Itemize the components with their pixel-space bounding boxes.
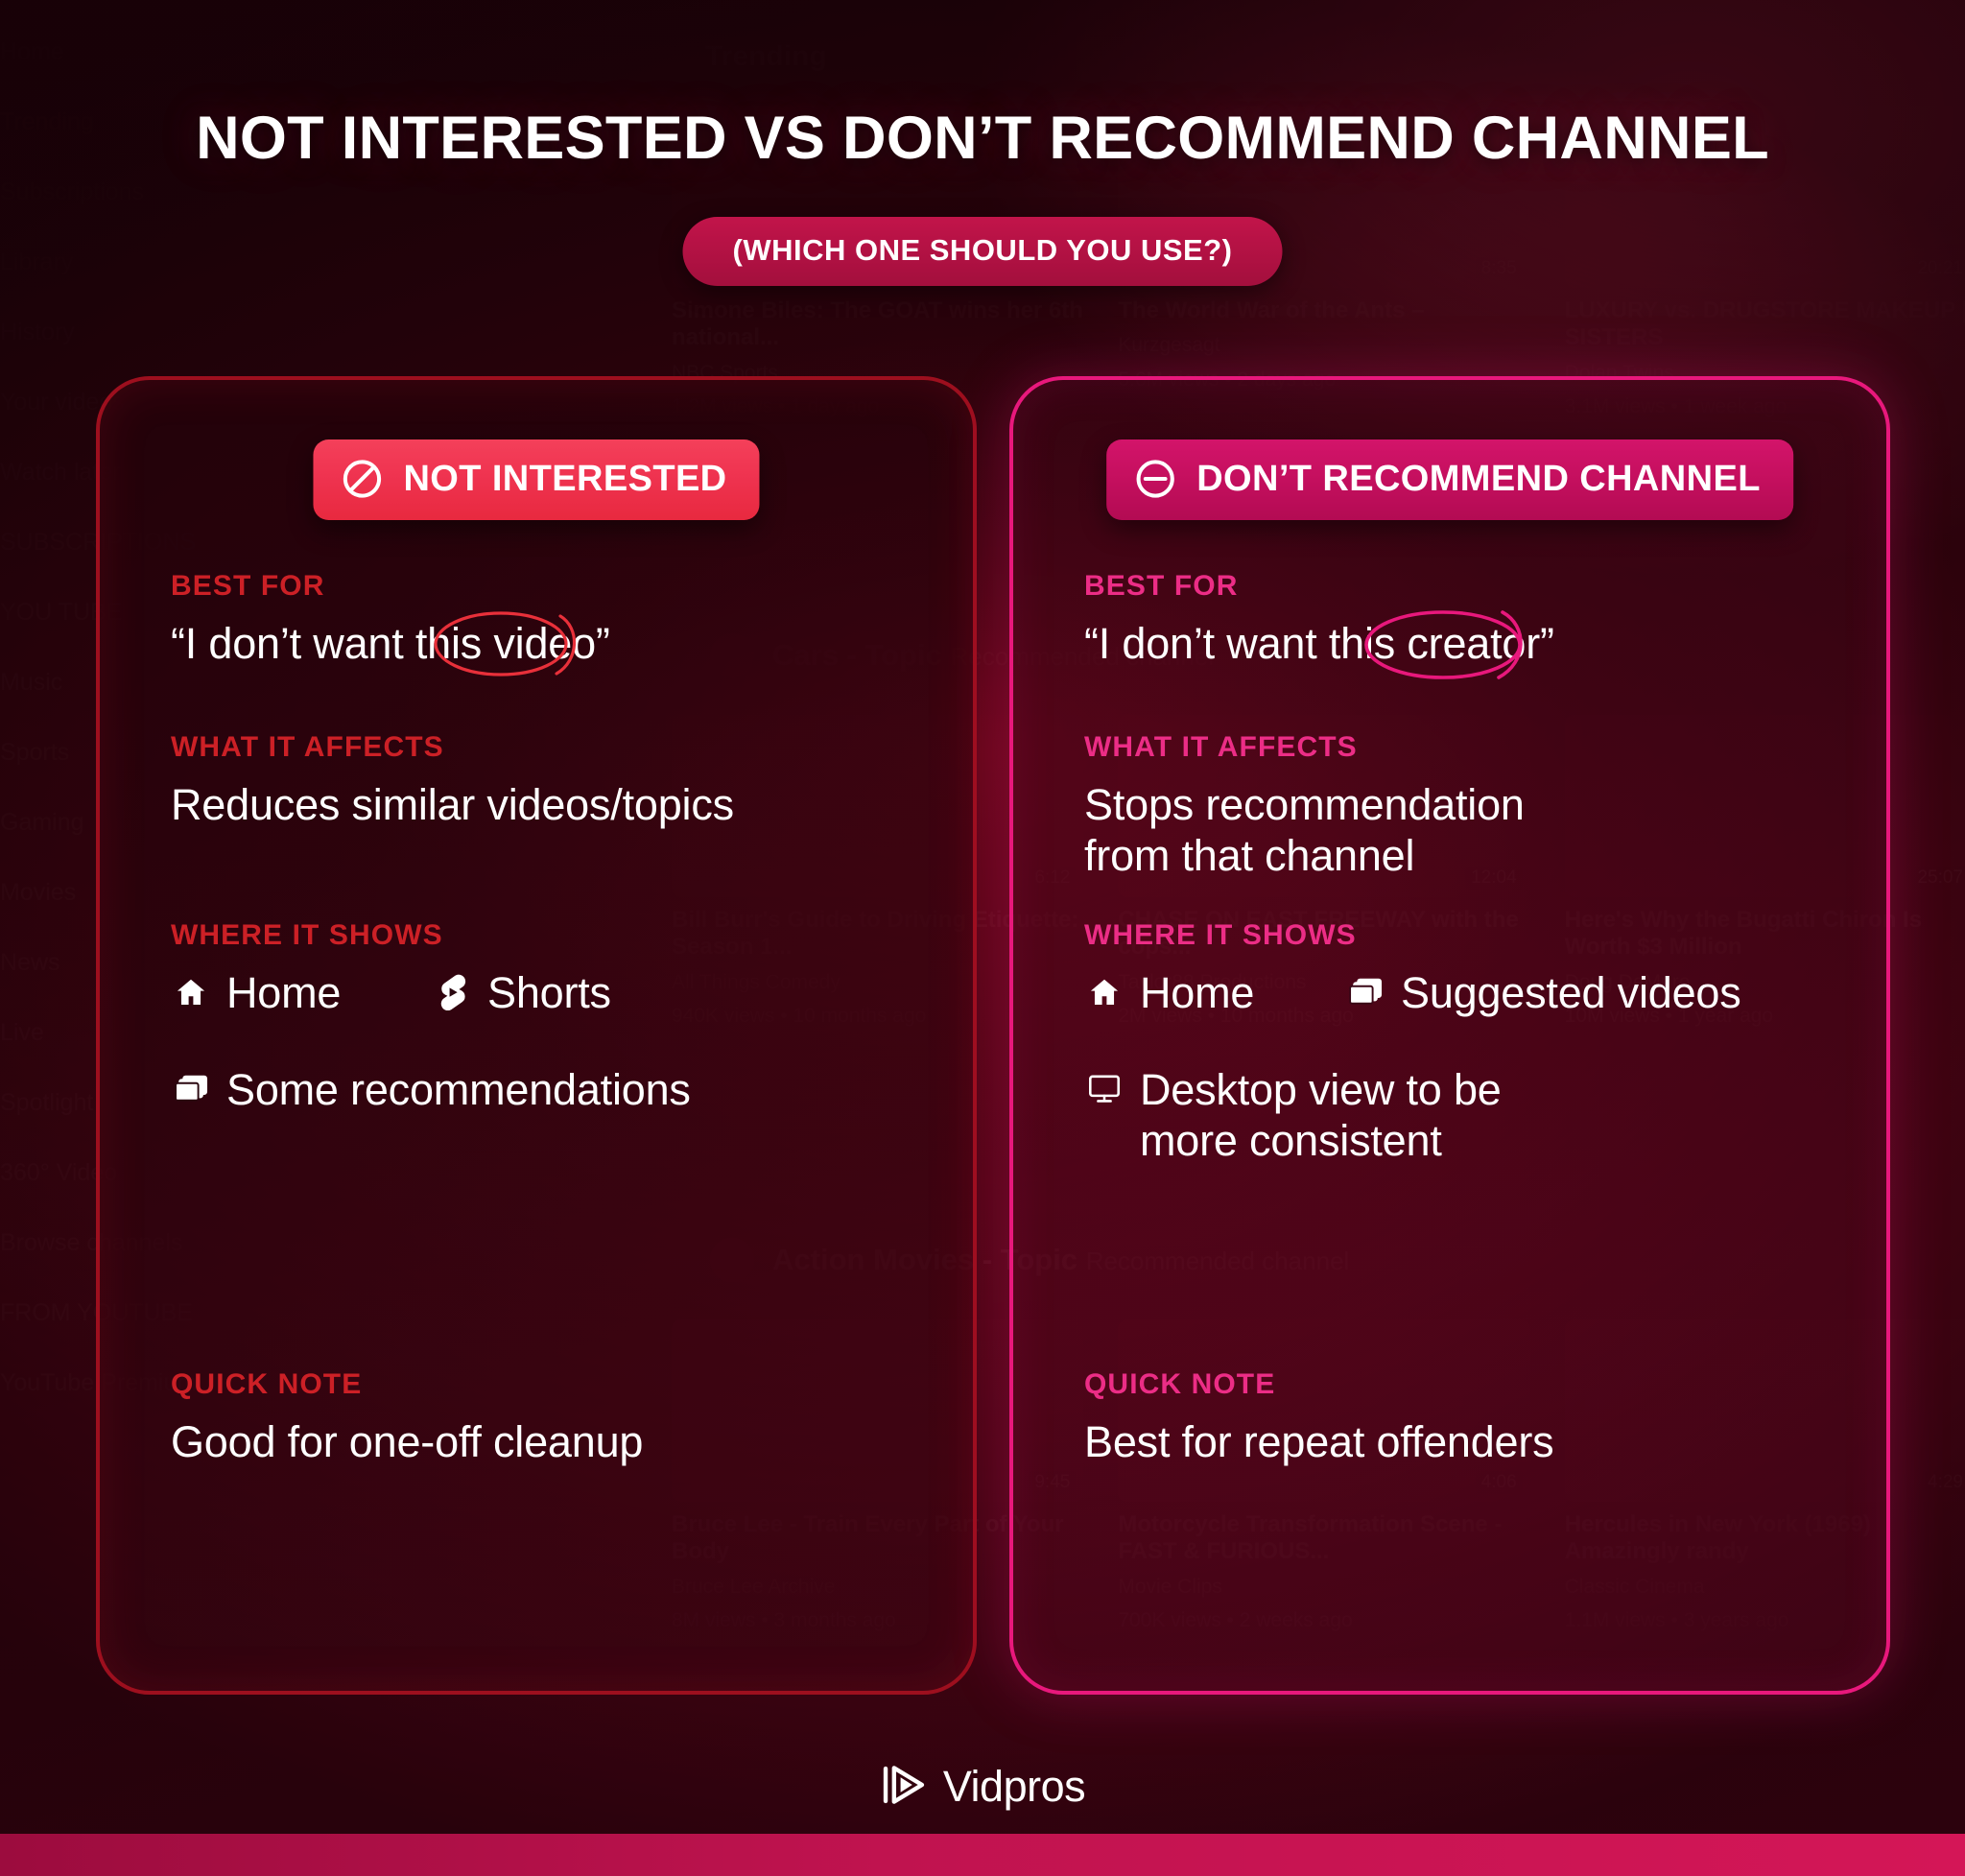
list-item-shorts: Shorts <box>432 967 611 1018</box>
section-quick-note: QUICK NOTE Best for repeat offenders <box>1084 1368 1838 1467</box>
section-quick-note: QUICK NOTE Good for one-off cleanup <box>171 1368 925 1467</box>
no-entry-sign-icon <box>340 457 384 501</box>
page-subtitle-badge: (WHICH ONE SHOULD YOU USE?) <box>683 217 1283 286</box>
section-where-it-shows: WHERE IT SHOWS Home <box>1084 919 1838 1166</box>
badge-not-interested: NOT INTERESTED <box>313 439 759 520</box>
where-it-shows-list: Home Suggested videos <box>1084 967 1838 1166</box>
section-what-it-affects: WHAT IT AFFECTS Stops recommendation fro… <box>1084 731 1838 881</box>
section-best-for: BEST FOR “I don’t want this video” <box>171 570 925 669</box>
list-item-label: Home <box>226 967 341 1018</box>
list-item-label: Home <box>1140 967 1254 1018</box>
shorts-icon <box>432 967 472 1017</box>
section-value: Reduces similar videos/topics <box>171 779 925 830</box>
section-value: Good for one-off cleanup <box>171 1416 925 1467</box>
section-label: WHERE IT SHOWS <box>1084 919 1838 952</box>
minus-circle-icon <box>1133 457 1177 501</box>
section-label: WHAT IT AFFECTS <box>171 731 925 764</box>
section-value: “I don’t want this creator” <box>1084 618 1554 669</box>
section-label: BEST FOR <box>171 570 925 603</box>
stacked-cards-icon <box>1345 967 1385 1017</box>
list-item-label: Desktop view to be more consistent <box>1140 1064 1535 1166</box>
section-what-it-affects: WHAT IT AFFECTS Reduces similar videos/t… <box>171 731 925 830</box>
section-label: QUICK NOTE <box>171 1368 925 1401</box>
page-title: NOT INTERESTED VS DON’T RECOMMEND CHANNE… <box>0 104 1965 173</box>
list-item-home: Home <box>1084 967 1345 1018</box>
home-icon <box>1084 967 1125 1017</box>
stacked-cards-icon <box>171 1064 211 1114</box>
badge-dont-recommend-channel: DON’T RECOMMEND CHANNEL <box>1106 439 1793 520</box>
list-item-home: Home <box>171 967 432 1018</box>
brand-wordmark: Vidpros <box>943 1762 1085 1812</box>
card-not-interested: NOT INTERESTED BEST FOR “I don’t want th… <box>96 376 977 1695</box>
list-item-desktop-view: Desktop view to be more consistent <box>1084 1064 1535 1166</box>
badge-not-interested-label: NOT INTERESTED <box>403 459 726 500</box>
section-label: BEST FOR <box>1084 570 1838 603</box>
desktop-monitor-icon <box>1084 1064 1125 1114</box>
bottom-accent-bar <box>0 1834 1965 1876</box>
brand-logo: Vidpros <box>0 1762 1965 1812</box>
best-for-text: “I don’t want this video” <box>171 619 610 668</box>
section-value: “I don’t want this video” <box>171 618 610 669</box>
section-value: Stops recommendation from that channel <box>1084 779 1593 881</box>
section-label: WHERE IT SHOWS <box>171 919 925 952</box>
card-dont-recommend-channel: DON’T RECOMMEND CHANNEL BEST FOR “I don’… <box>1009 376 1890 1695</box>
section-label: QUICK NOTE <box>1084 1368 1838 1401</box>
list-item-label: Shorts <box>487 967 611 1018</box>
section-label: WHAT IT AFFECTS <box>1084 731 1838 764</box>
best-for-text: “I don’t want this creator” <box>1084 619 1554 668</box>
home-icon <box>171 967 211 1017</box>
section-value: Best for repeat offenders <box>1084 1416 1838 1467</box>
list-item-label: Some recommendations <box>226 1064 691 1115</box>
section-best-for: BEST FOR “I don’t want this creator” <box>1084 570 1838 669</box>
where-it-shows-list: Home Shorts <box>171 967 925 1115</box>
list-item-some-recommendations: Some recommendations <box>171 1064 925 1115</box>
play-triangle-icon <box>880 1764 930 1811</box>
list-item-suggested-videos: Suggested videos <box>1345 967 1741 1018</box>
badge-dont-recommend-channel-label: DON’T RECOMMEND CHANNEL <box>1196 459 1761 500</box>
section-where-it-shows: WHERE IT SHOWS Home <box>171 919 925 1115</box>
list-item-label: Suggested videos <box>1401 967 1741 1018</box>
